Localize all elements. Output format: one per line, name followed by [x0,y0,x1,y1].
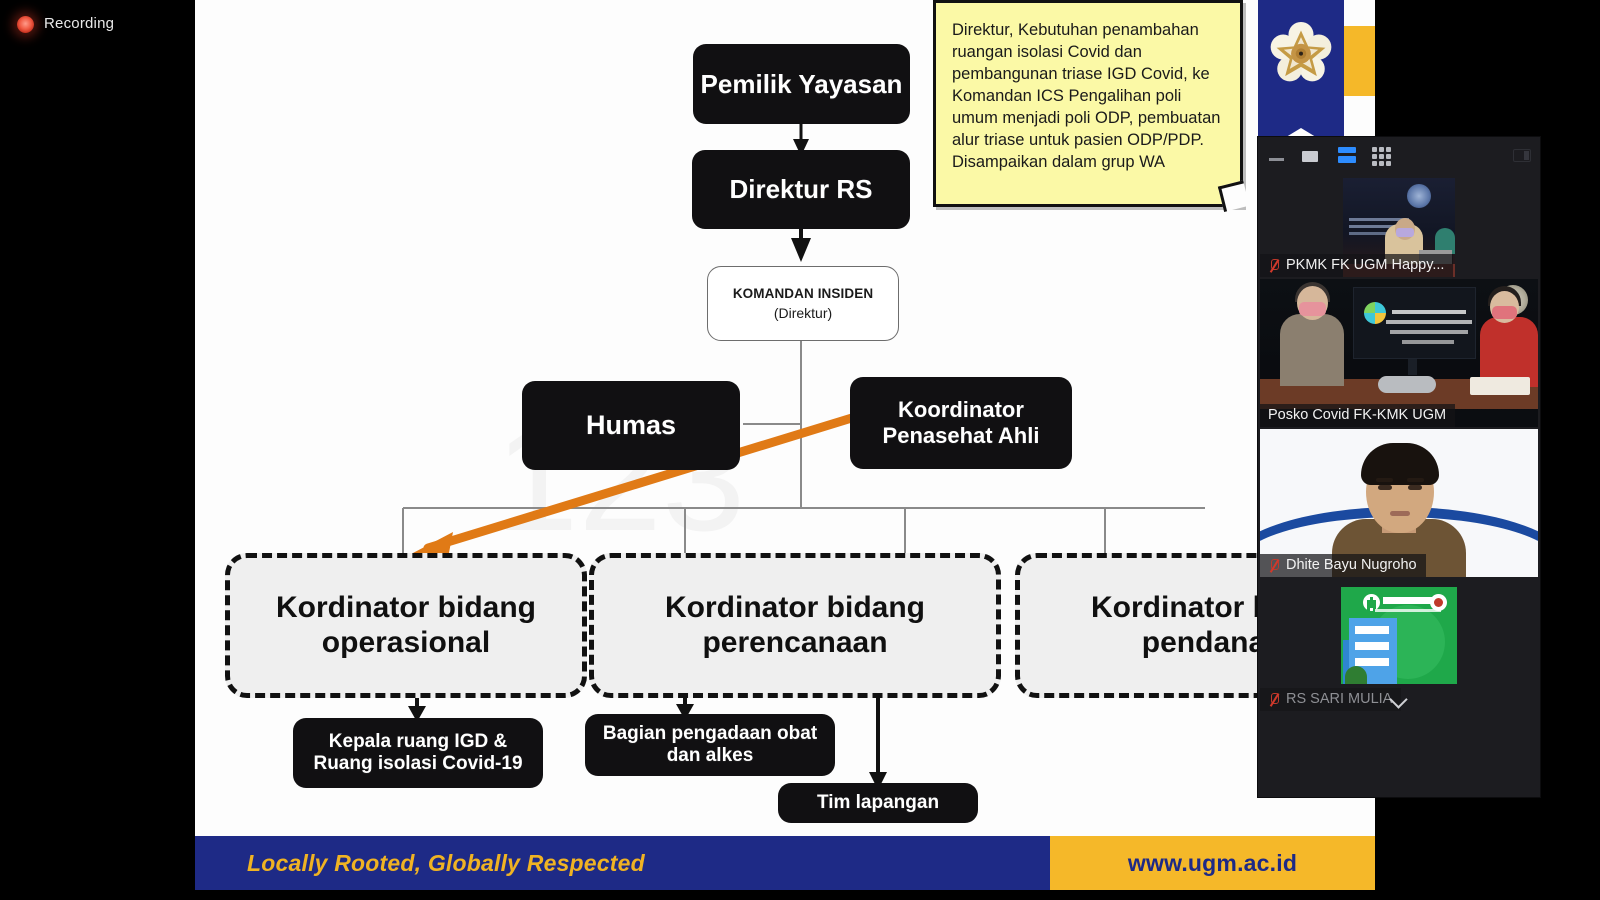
node-label-line1: Kordinator bidang [276,591,536,626]
node-koordinator-penasehat-ahli: Koordinator Penasehat Ahli [850,377,1072,469]
participant-name: Posko Covid FK-KMK UGM [1268,407,1446,423]
maximize-icon[interactable] [1302,151,1318,162]
footer-tagline: Locally Rooted, Globally Respected [247,850,645,877]
chevron-down-icon[interactable] [1390,691,1408,709]
node-kordinator-bidang-perencanaan: Kordinator bidang perencanaan [589,553,1001,698]
mic-muted-icon [1268,558,1280,573]
participant-tile[interactable]: Dhite Bayu Nugroho [1260,429,1538,577]
mic-muted-icon [1268,692,1280,707]
ugm-rosette-icon [1268,20,1334,86]
node-humas: Humas [522,381,740,470]
zoom-panel-toolbar [1258,137,1540,173]
participant-name-badge: RS SARI MULIA [1260,688,1401,711]
node-label-line2: operasional [276,626,536,661]
footer-tagline-bar: Locally Rooted, Globally Respected [195,836,1050,890]
node-sublabel: (Direktur) [733,305,873,321]
node-label-line1: Kordinator bidang [665,591,925,626]
recording-label: Recording [44,15,114,32]
node-label-line2: Ruang isolasi Covid-19 [313,753,522,775]
zoom-meeting-screen: Recording 123 [0,0,1600,900]
recording-indicator: Recording [0,0,195,50]
participant-name: RS SARI MULIA [1286,691,1392,707]
participant-name-badge: Posko Covid FK-KMK UGM [1260,404,1455,427]
participant-tile[interactable]: Posko Covid FK-KMK UGM [1260,279,1538,427]
participant-name: PKMK FK UGM Happy... [1286,257,1444,273]
node-bagian-pengadaan-obat: Bagian pengadaan obat dan alkes [585,714,835,776]
node-label: KOMANDAN INSIDEN [733,286,873,302]
node-komandan-insiden: KOMANDAN INSIDEN (Direktur) [707,266,899,341]
sticky-note-text: Direktur, Kebutuhan penambahan ruangan i… [952,21,1220,171]
node-label: Direktur RS [729,174,872,204]
footer-website-bar: www.ugm.ac.id [1050,836,1375,890]
minimize-icon[interactable] [1269,158,1284,161]
node-label-line2: perencanaan [665,626,925,661]
node-label-line2: dan alkes [603,745,817,767]
gallery-view-icon[interactable] [1372,147,1391,166]
recording-dot-icon [17,16,34,33]
node-label: Humas [586,410,676,441]
node-pemilik-yayasan: Pemilik Yayasan [693,44,910,124]
participant-tile[interactable]: PKMK FK UGM Happy... [1260,173,1538,277]
sticky-note: Direktur, Kebutuhan penambahan ruangan i… [933,0,1243,207]
node-label-line1: Kepala ruang IGD & [313,731,522,753]
slide-footer: Locally Rooted, Globally Respected www.u… [195,836,1375,890]
zoom-video-panel: PKMK FK UGM Happy... Posko Covid FK-KMK … [1258,137,1540,797]
node-direktur-rs: Direktur RS [692,150,910,229]
node-tim-lapangan: Tim lapangan [778,783,978,823]
node-label: Pemilik Yayasan [701,69,903,99]
node-label-line1: Bagian pengadaan obat [603,723,817,745]
node-label-line1: Koordinator [883,397,1040,423]
speaker-view-icon[interactable] [1338,147,1356,165]
collapse-panel-icon[interactable] [1513,149,1531,162]
ugm-gold-accent [1344,26,1375,96]
participant-name-badge: PKMK FK UGM Happy... [1260,254,1453,277]
shared-screen-slide: 123 Pemilik Yayasan [195,0,1375,890]
node-label: Tim lapangan [817,792,939,814]
node-label-line2: Penasehat Ahli [883,423,1040,449]
participant-name: Dhite Bayu Nugroho [1286,557,1417,573]
participant-name-badge: Dhite Bayu Nugroho [1260,554,1426,577]
node-kordinator-bidang-operasional: Kordinator bidang operasional [225,553,587,698]
mic-muted-icon [1268,258,1280,273]
footer-website: www.ugm.ac.id [1128,850,1297,877]
participant-tile[interactable]: RS SARI MULIA [1260,579,1538,711]
node-kepala-ruang-igd: Kepala ruang IGD & Ruang isolasi Covid-1… [293,718,543,788]
